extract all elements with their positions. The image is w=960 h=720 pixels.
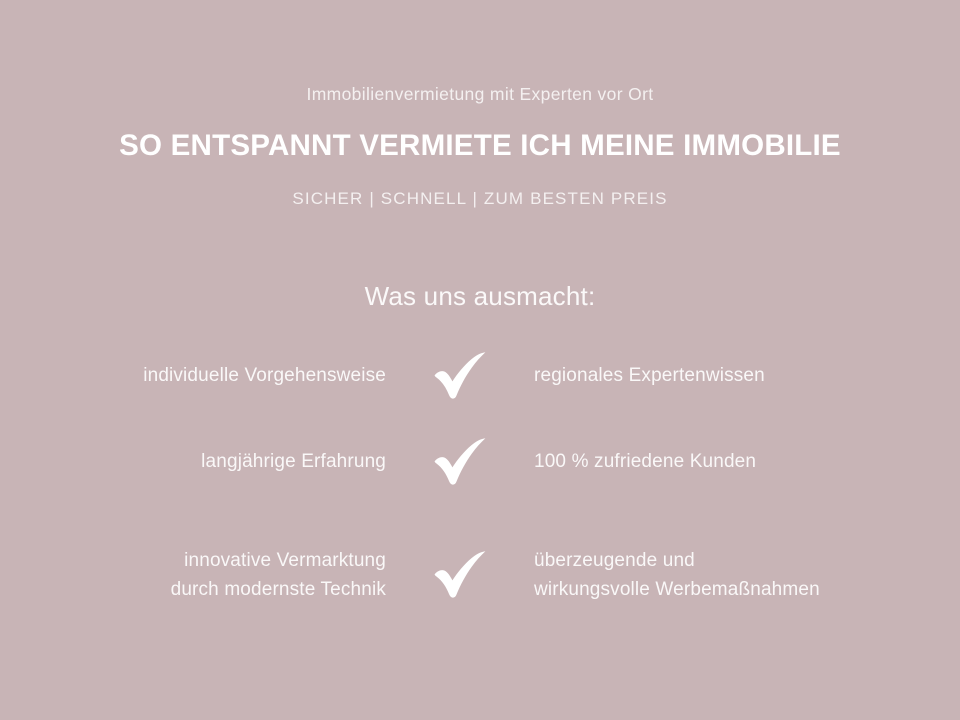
feature-right-line: überzeugende und [534,546,864,575]
feature-left-line: innovative Vermarktung [96,546,386,575]
feature-right-text: 100 % zufriedene Kunden [534,447,864,476]
feature-right-line: 100 % zufriedene Kunden [534,447,864,476]
feature-row: langjährige Erfahrung 100 % zufriedene K… [0,431,960,493]
feature-row: innovative Vermarktung durch modernste T… [0,535,960,615]
page-title: SO ENTSPANNT VERMIETE ICH MEINE IMMOBILI… [7,129,953,164]
feature-row: individuelle Vorgehensweise regionales E… [0,345,960,407]
feature-right-text: überzeugende und wirkungsvolle Werbemaßn… [534,546,864,605]
feature-right-text: regionales Expertenwissen [534,361,864,390]
feature-list: individuelle Vorgehensweise regionales E… [0,345,960,615]
check-mark-icon [386,438,534,486]
eyebrow-text: Immobilienvermietung mit Experten vor Or… [0,84,960,105]
tagline-text: SICHER | SCHNELL | ZUM BESTEN PREIS [0,189,960,209]
feature-left-text: langjährige Erfahrung [96,447,386,476]
feature-left-line: durch modernste Technik [96,575,386,604]
feature-left-line: langjährige Erfahrung [96,447,386,476]
feature-left-line: individuelle Vorgehensweise [96,361,386,390]
check-mark-icon [386,551,534,599]
header-block: Immobilienvermietung mit Experten vor Or… [0,84,960,209]
feature-left-text: individuelle Vorgehensweise [96,361,386,390]
check-mark-icon [386,352,534,400]
section-heading: Was uns ausmacht: [0,281,960,312]
feature-right-line: regionales Expertenwissen [534,361,864,390]
slide-canvas: Immobilienvermietung mit Experten vor Or… [0,0,960,720]
feature-left-text: innovative Vermarktung durch modernste T… [96,546,386,605]
feature-right-line: wirkungsvolle Werbemaßnahmen [534,575,864,604]
